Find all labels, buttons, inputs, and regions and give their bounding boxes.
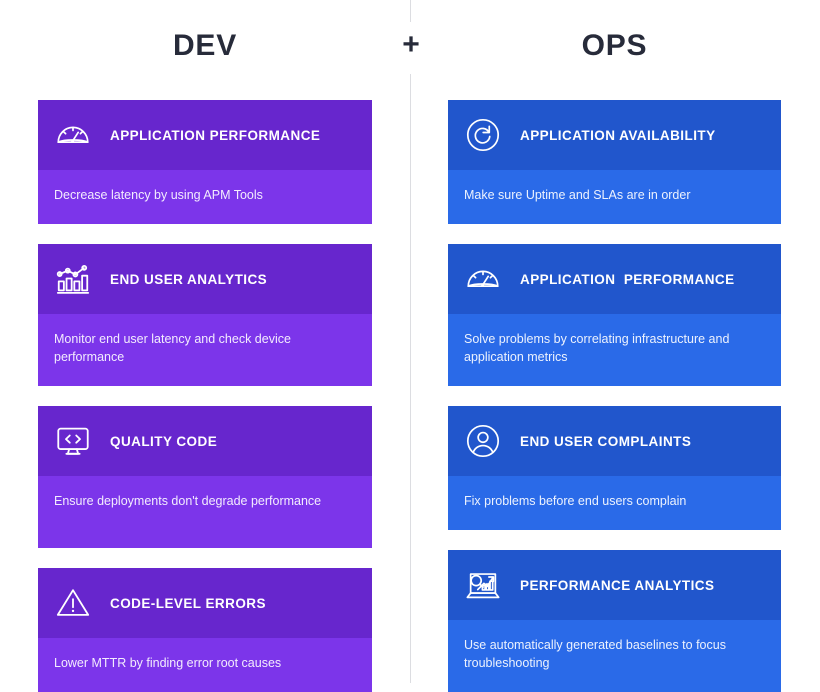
- center-divider-bottom: [410, 74, 411, 683]
- plus-separator-label: +: [396, 28, 426, 62]
- card-description: Use automatically generated baselines to…: [448, 620, 781, 692]
- dev-ops-comparison-board: + DEV OPS APPLICATION P: [0, 0, 820, 683]
- dev-column-heading: DEV: [38, 28, 372, 64]
- card-header: PERFORMANCE ANALYTICS: [448, 550, 781, 620]
- user-circle-icon: [464, 422, 502, 460]
- card-header: END USER ANALYTICS: [38, 244, 372, 314]
- analytics-search-icon: [464, 566, 502, 604]
- ops-column: APPLICATION AVAILABILITY Make sure Uptim…: [448, 100, 781, 692]
- gauge-icon: [464, 260, 502, 298]
- refresh-circle-icon: [464, 116, 502, 154]
- card-description: Solve problems by correlating infrastruc…: [448, 314, 781, 386]
- card-title: CODE-LEVEL ERRORS: [110, 596, 266, 611]
- card-application-performance-ops[interactable]: APPLICATION PERFORMANCE Solve problems b…: [448, 244, 781, 386]
- card-header: APPLICATION PERFORMANCE: [448, 244, 781, 314]
- card-title: END USER COMPLAINTS: [520, 434, 691, 449]
- center-divider-top: [410, 0, 411, 22]
- gauge-icon: [54, 116, 92, 154]
- card-title: PERFORMANCE ANALYTICS: [520, 578, 714, 593]
- card-code-level-errors[interactable]: CODE-LEVEL ERRORS Lower MTTR by finding …: [38, 568, 372, 692]
- card-title: APPLICATION AVAILABILITY: [520, 128, 716, 143]
- card-application-performance[interactable]: APPLICATION PERFORMANCE Decrease latency…: [38, 100, 372, 224]
- ops-column-heading: OPS: [448, 28, 781, 64]
- card-title: APPLICATION PERFORMANCE: [520, 272, 735, 287]
- card-description: Monitor end user latency and check devic…: [38, 314, 372, 386]
- code-monitor-icon: [54, 422, 92, 460]
- dev-column: APPLICATION PERFORMANCE Decrease latency…: [38, 100, 372, 692]
- card-performance-analytics[interactable]: PERFORMANCE ANALYTICS Use automatically …: [448, 550, 781, 692]
- card-quality-code[interactable]: QUALITY CODE Ensure deployments don't de…: [38, 406, 372, 548]
- card-application-availability[interactable]: APPLICATION AVAILABILITY Make sure Uptim…: [448, 100, 781, 224]
- card-end-user-analytics[interactable]: END USER ANALYTICS Monitor end user late…: [38, 244, 372, 386]
- card-description: Ensure deployments don't degrade perform…: [38, 476, 372, 548]
- card-title: END USER ANALYTICS: [110, 272, 267, 287]
- card-header: END USER COMPLAINTS: [448, 406, 781, 476]
- card-description: Fix problems before end users complain: [448, 476, 781, 530]
- card-description: Decrease latency by using APM Tools: [38, 170, 372, 224]
- card-description: Make sure Uptime and SLAs are in order: [448, 170, 781, 224]
- bar-chart-trend-icon: [54, 260, 92, 298]
- card-title: QUALITY CODE: [110, 434, 217, 449]
- card-title: APPLICATION PERFORMANCE: [110, 128, 320, 143]
- card-end-user-complaints[interactable]: END USER COMPLAINTS Fix problems before …: [448, 406, 781, 530]
- card-header: QUALITY CODE: [38, 406, 372, 476]
- card-header: CODE-LEVEL ERRORS: [38, 568, 372, 638]
- warning-triangle-icon: [54, 584, 92, 622]
- card-header: APPLICATION AVAILABILITY: [448, 100, 781, 170]
- card-description: Lower MTTR by finding error root causes: [38, 638, 372, 692]
- card-header: APPLICATION PERFORMANCE: [38, 100, 372, 170]
